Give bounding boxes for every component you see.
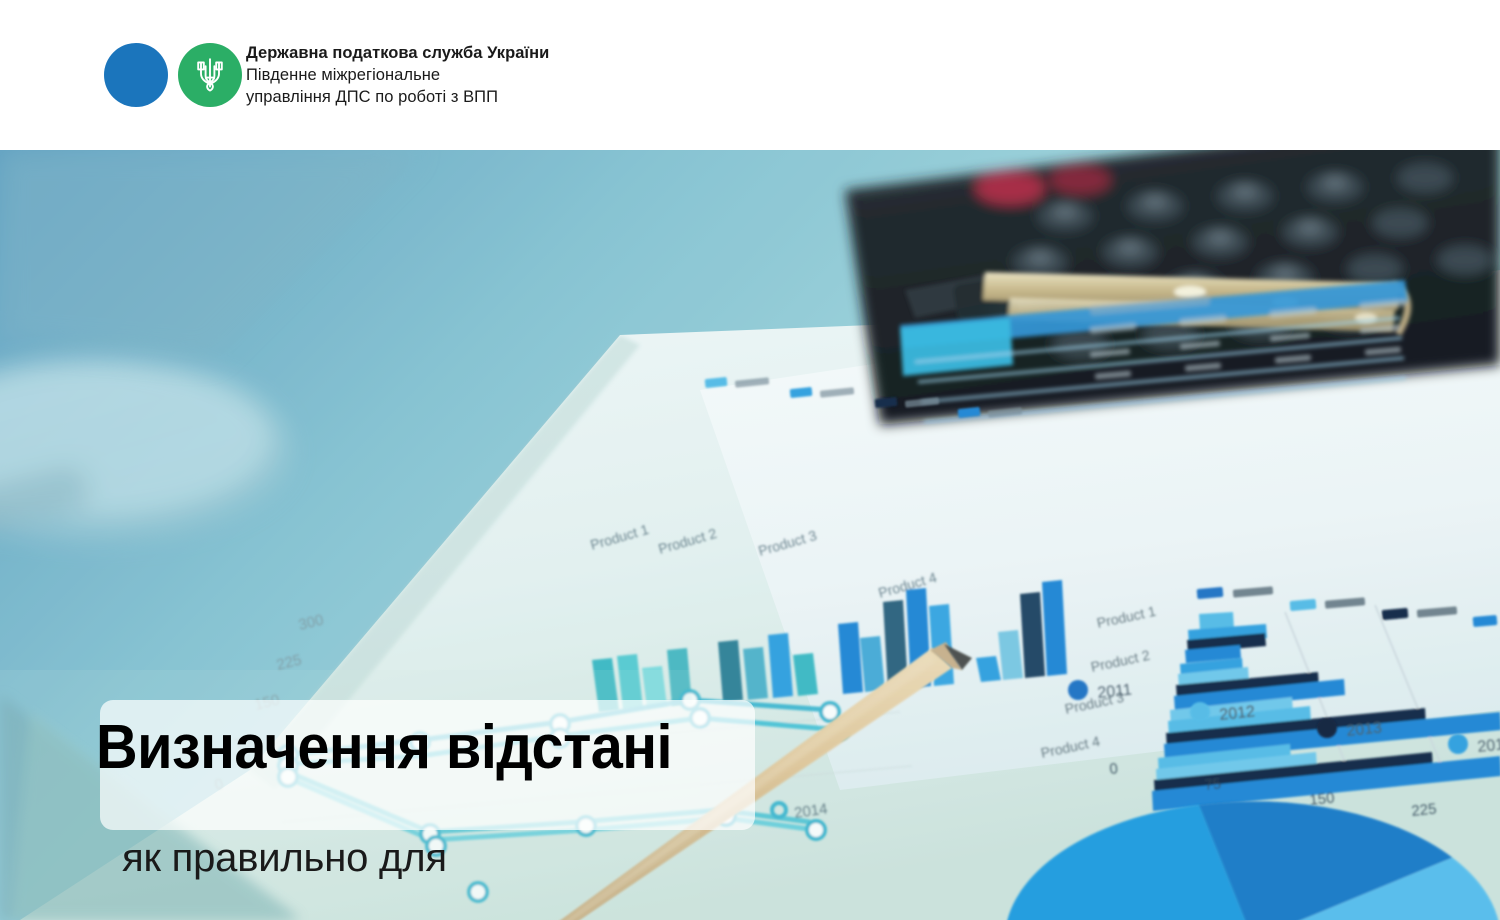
logo-marks xyxy=(104,40,232,110)
page-title-line-1: Визначення відстані xyxy=(96,708,672,788)
hero-banner: 0 75 150 225 Product 1 Product 2 Product… xyxy=(0,150,1500,920)
page-title: Визначення відстані до адмінцентру: xyxy=(96,548,672,920)
org-name-line-1: Державна податкова служба України xyxy=(246,42,549,64)
logo-circle-blue-icon xyxy=(104,43,168,107)
page-root: Державна податкова служба України Півден… xyxy=(0,0,1500,920)
organisation-logo-block: Державна податкова служба України Півден… xyxy=(104,40,549,110)
org-name-line-2: Південне міжрегіональне xyxy=(246,64,549,86)
org-name-line-3: управління ДПС по роботі з ВПП xyxy=(246,86,549,108)
ukraine-trident-icon xyxy=(194,56,226,94)
logo-circle-green-icon xyxy=(178,43,242,107)
site-header: Державна податкова служба України Півден… xyxy=(0,0,1500,150)
organisation-name: Державна податкова служба України Півден… xyxy=(246,40,549,108)
